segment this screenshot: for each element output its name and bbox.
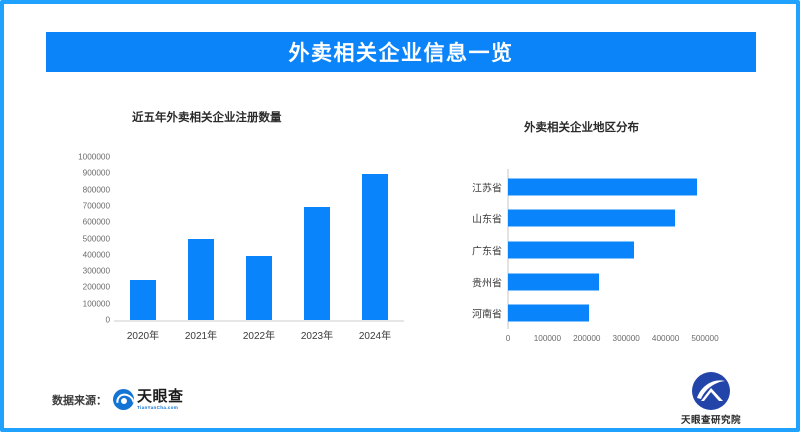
y-axis-tick-label: 200000 [52,283,110,292]
bar-山东省 [508,210,675,227]
y-axis-tick-label: 1000000 [52,153,110,162]
chart-panel-enterprises-by-region: 外卖相关企业地区分布 江苏省山东省广东省贵州省河南省 0100000200000… [424,99,784,364]
y-axis-tick-label: 300000 [52,267,110,276]
y-axis-tick-label: 0 [52,316,110,325]
x-axis-label: 2023年 [289,327,345,342]
x-axis-tick-labels: 0100000200000300000400000500000 [424,334,784,352]
bar-2020年 [130,280,156,320]
tianyancha-research-institute-icon [692,372,730,410]
bar-2023年 [304,207,330,320]
bar-广东省 [508,242,634,259]
tianyancha-logo-text: 天眼查 TianYanCha.com [137,389,184,410]
y-axis-tick-label: 500000 [52,234,110,243]
chart-panel-registrations-by-year: 近五年外卖相关企业注册数量 01000002000003000004000005… [50,99,410,359]
bar-2021年 [188,239,214,320]
tianyancha-logo-name: 天眼查 [137,389,184,404]
bar-2024年 [362,174,388,320]
chart-title-region: 外卖相关企业地区分布 [524,119,639,135]
y-axis-tick-labels: 0100000200000300000400000500000600000700… [50,157,110,320]
y-axis-tick-label: 800000 [52,185,110,194]
tianyancha-eye-icon [113,389,134,410]
y-axis-tick-label: 400000 [52,250,110,259]
infographic-canvas: 外卖相关企业信息一览 近五年外卖相关企业注册数量 010000020000030… [0,0,800,432]
x-axis-label: 2021年 [173,327,229,342]
page-title-banner: 外卖相关企业信息一览 [46,32,756,72]
data-source-label: 数据来源： [52,392,107,408]
chart-title-registrations: 近五年外卖相关企业注册数量 [132,109,282,125]
x-axis-label: 2020年 [115,327,171,342]
bar-2022年 [246,256,272,320]
x-axis-tick-label: 500000 [675,334,735,343]
vertical-bar-series [114,157,404,320]
tianyancha-logo-domain: TianYanCha.com [137,406,184,411]
x-axis-label: 2022年 [231,327,287,342]
brand-footer: 天眼查研究院 [668,372,754,426]
category-label-广东省: 广东省 [444,243,502,258]
brand-name: 天眼查研究院 [681,412,741,426]
x-axis-label: 2024年 [347,327,403,342]
y-axis-tick-label: 700000 [52,201,110,210]
x-axis-category-labels: 2020年2021年2022年2023年2024年 [114,327,404,347]
category-label-贵州省: 贵州省 [444,274,502,289]
bar-河南省 [508,305,589,322]
tianyancha-logo: 天眼查 TianYanCha.com [113,389,184,410]
bar-贵州省 [508,273,599,290]
y-axis-tick-label: 900000 [52,169,110,178]
y-axis-tick-label: 600000 [52,218,110,227]
category-label-山东省: 山东省 [444,211,502,226]
category-label-河南省: 河南省 [444,306,502,321]
page-title: 外卖相关企业信息一览 [289,37,514,67]
category-label-江苏省: 江苏省 [444,179,502,194]
bar-江苏省 [508,178,697,195]
y-axis-tick-label: 100000 [52,299,110,308]
data-source-footer: 数据来源： 天眼查 TianYanCha.com [52,389,184,410]
x-axis-baseline [114,320,404,322]
